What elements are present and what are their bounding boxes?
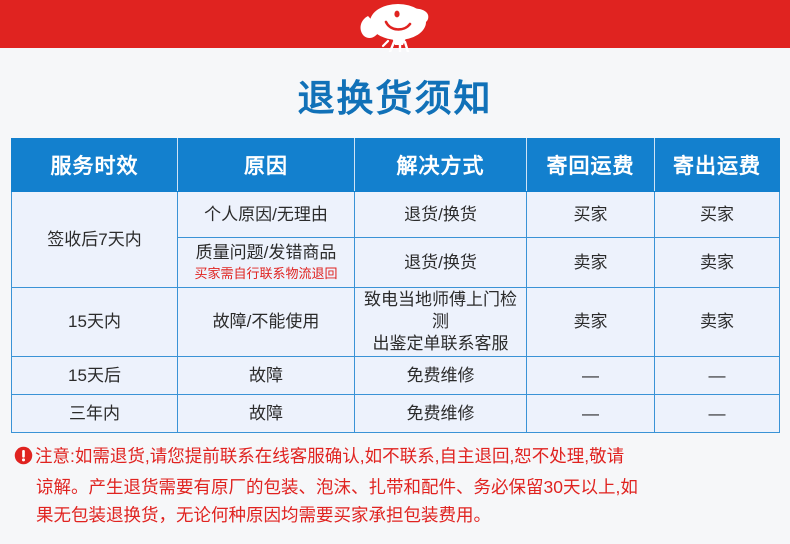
column-header-solution: 解决方式 [355,139,527,192]
cell-solution-3: 免费维修 [355,357,527,395]
notice-line-2: 谅解。产生退货需要有原厂的包装、泡沫、扎带和配件、务必保留30天以上,如 [14,473,776,501]
jd-joy-dog-logo [350,0,440,52]
cell-service-period-3: 15天后 [12,357,178,395]
cell-return-fee-1: 卖家 [527,238,655,288]
cell-solution-1: 退货/换货 [355,238,527,288]
return-policy-table: 服务时效 原因 解决方式 寄回运费 寄出运费 签收后7天内 个人原因/无理由 退… [11,138,780,433]
cell-ship-fee-2: 卖家 [655,288,780,357]
cell-solution-2-line2: 出鉴定单联系客服 [356,333,525,355]
cell-service-period-0: 签收后7天内 [12,192,178,288]
notice-line-1-wrapper: 注意:如需退货,请您提前联系在线客服确认,如不联系,自主退回,恕不处理,敬请 [14,442,776,473]
column-header-service-period: 服务时效 [12,139,178,192]
table-header-row: 服务时效 原因 解决方式 寄回运费 寄出运费 [12,139,780,192]
notice-line-3: 果无包装退换货，无论何种原因均需要买家承担包装费用。 [14,501,776,529]
column-header-return-shipping-fee: 寄回运费 [527,139,655,192]
cell-reason-1-note: 买家需自行联系物流退回 [179,265,353,283]
cell-solution-4: 免费维修 [355,395,527,433]
page-title: 退换货须知 [0,76,790,122]
cell-return-fee-2: 卖家 [527,288,655,357]
column-header-outbound-shipping-fee: 寄出运费 [655,139,780,192]
cell-return-fee-0: 买家 [527,192,655,238]
cell-solution-2: 致电当地师傅上门检测 出鉴定单联系客服 [355,288,527,357]
cell-return-fee-4: — [527,395,655,433]
table-row: 三年内 故障 免费维修 — — [12,395,780,433]
cell-reason-4: 故障 [178,395,355,433]
cell-solution-0: 退货/换货 [355,192,527,238]
important-notice: 注意:如需退货,请您提前联系在线客服确认,如不联系,自主退回,恕不处理,敬请 谅… [14,442,776,529]
cell-ship-fee-4: — [655,395,780,433]
cell-ship-fee-3: — [655,357,780,395]
cell-reason-3: 故障 [178,357,355,395]
cell-reason-2: 故障/不能使用 [178,288,355,357]
column-header-reason: 原因 [178,139,355,192]
policy-table-wrapper: 服务时效 原因 解决方式 寄回运费 寄出运费 签收后7天内 个人原因/无理由 退… [11,138,779,433]
cell-service-period-4: 三年内 [12,395,178,433]
cell-ship-fee-1: 卖家 [655,238,780,288]
cell-ship-fee-0: 买家 [655,192,780,238]
cell-solution-2-line1: 致电当地师傅上门检测 [356,289,525,333]
cell-reason-0: 个人原因/无理由 [178,192,355,238]
cell-reason-1: 质量问题/发错商品 买家需自行联系物流退回 [178,238,355,288]
notice-line-1: 注意:如需退货,请您提前联系在线客服确认,如不联系,自主退回,恕不处理,敬请 [35,446,624,466]
warning-exclamation-icon [14,445,33,473]
cell-return-fee-3: — [527,357,655,395]
red-header-band [0,0,790,48]
table-row: 15天内 故障/不能使用 致电当地师傅上门检测 出鉴定单联系客服 卖家 卖家 [12,288,780,357]
cell-reason-1-main: 质量问题/发错商品 [179,242,353,264]
table-row: 15天后 故障 免费维修 — — [12,357,780,395]
cell-service-period-2: 15天内 [12,288,178,357]
table-row: 签收后7天内 个人原因/无理由 退货/换货 买家 买家 [12,192,780,238]
